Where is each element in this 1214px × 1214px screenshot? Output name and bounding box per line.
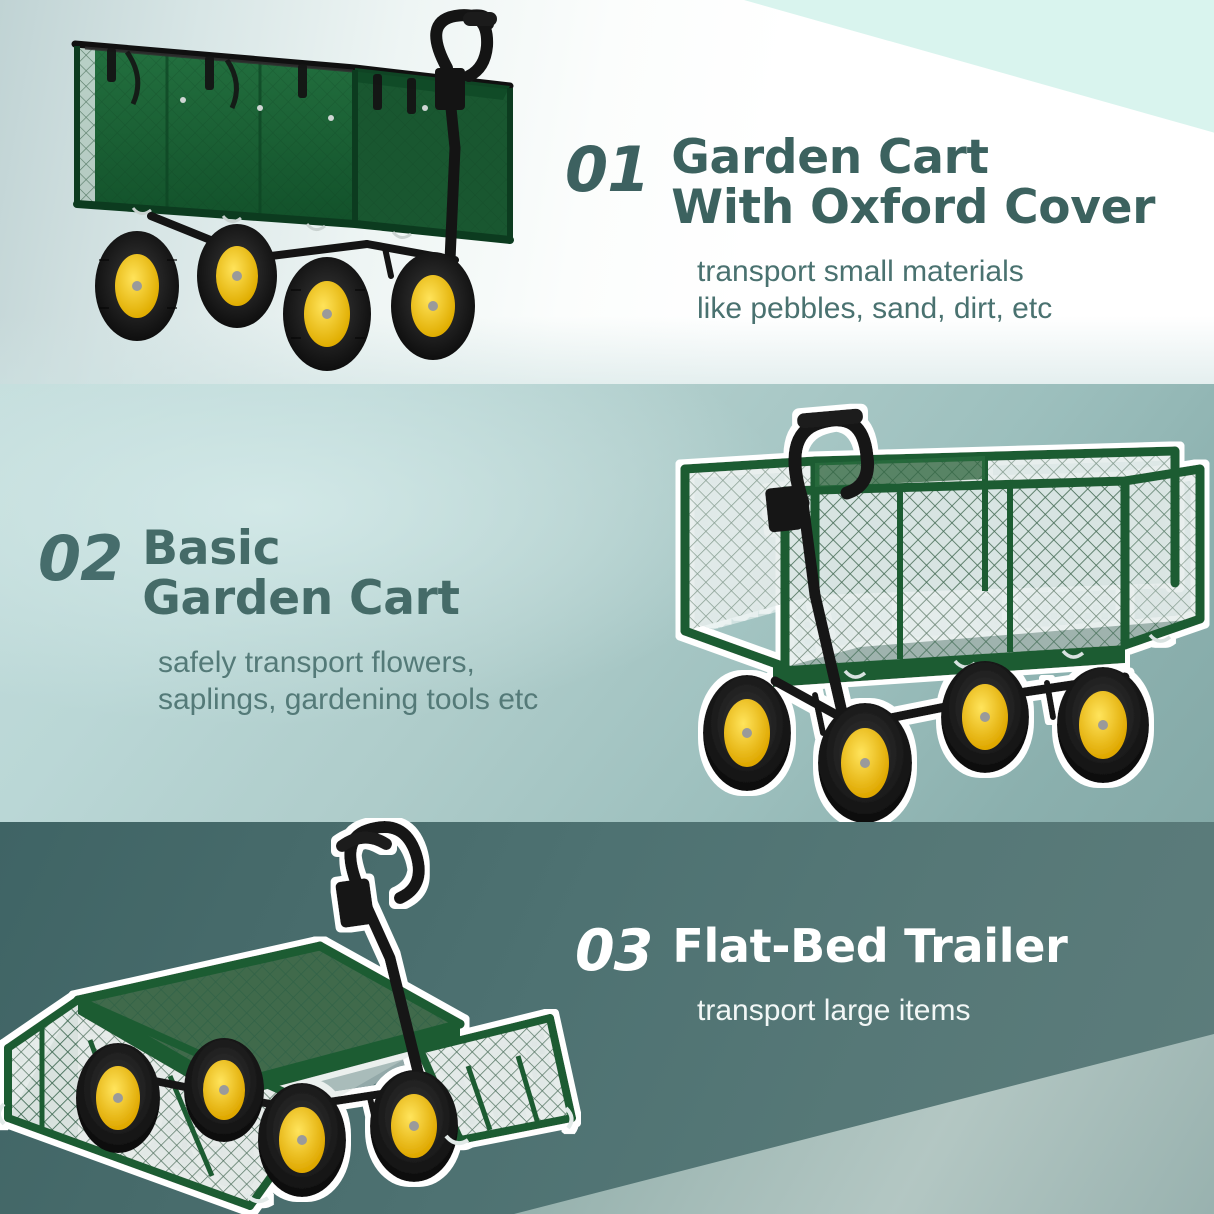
section-03-title: Flat-Bed Trailer [672,922,1067,971]
section-02-number: 02 [38,530,122,589]
section-02-title: Basic Garden Cart [142,524,459,624]
section-02-title-line2: Garden Cart [142,574,459,624]
section-02-title-line1: Basic [142,524,459,574]
section-01-text-block: 01 Garden Cart With Oxford Cover transpo… [565,133,1155,327]
section-03-title-line1: Flat-Bed Trailer [672,922,1067,971]
section-01-title: Garden Cart With Oxford Cover [671,133,1155,233]
section-01-subtitle-line2: like pebbles, sand, dirt, etc [697,290,1155,327]
garden-cart-with-oxford-cover-photo [55,8,555,393]
section-03-subtitle-line1: transport large items [697,992,1068,1029]
product-infographic-poster: 01 Garden Cart With Oxford Cover transpo… [0,0,1214,1214]
section-02-text-block: 02 Basic Garden Cart safely transport fl… [38,524,538,718]
section-02-subtitle-line1: safely transport flowers, [158,644,538,681]
section-01-title-line2: With Oxford Cover [671,183,1155,233]
basic-garden-cart-photo [655,395,1214,835]
flat-bed-trailer-photo [0,818,600,1214]
section-02-subtitle-line2: saplings, gardening tools etc [158,681,538,718]
section-03-text-block: 03 Flat-Bed Trailer transport large item… [575,922,1068,1029]
section-01-subtitle-line1: transport small materials [697,253,1155,290]
section-03-heading-row: 03 Flat-Bed Trailer [575,922,1068,978]
section-02-heading-row: 02 Basic Garden Cart [38,524,538,624]
section-01-title-line1: Garden Cart [671,133,1155,183]
band3-light-wedge [514,1034,1214,1214]
section-01-heading-row: 01 Garden Cart With Oxford Cover [565,133,1155,233]
section-01-number: 01 [565,141,649,200]
section-03-number: 03 [575,924,652,978]
